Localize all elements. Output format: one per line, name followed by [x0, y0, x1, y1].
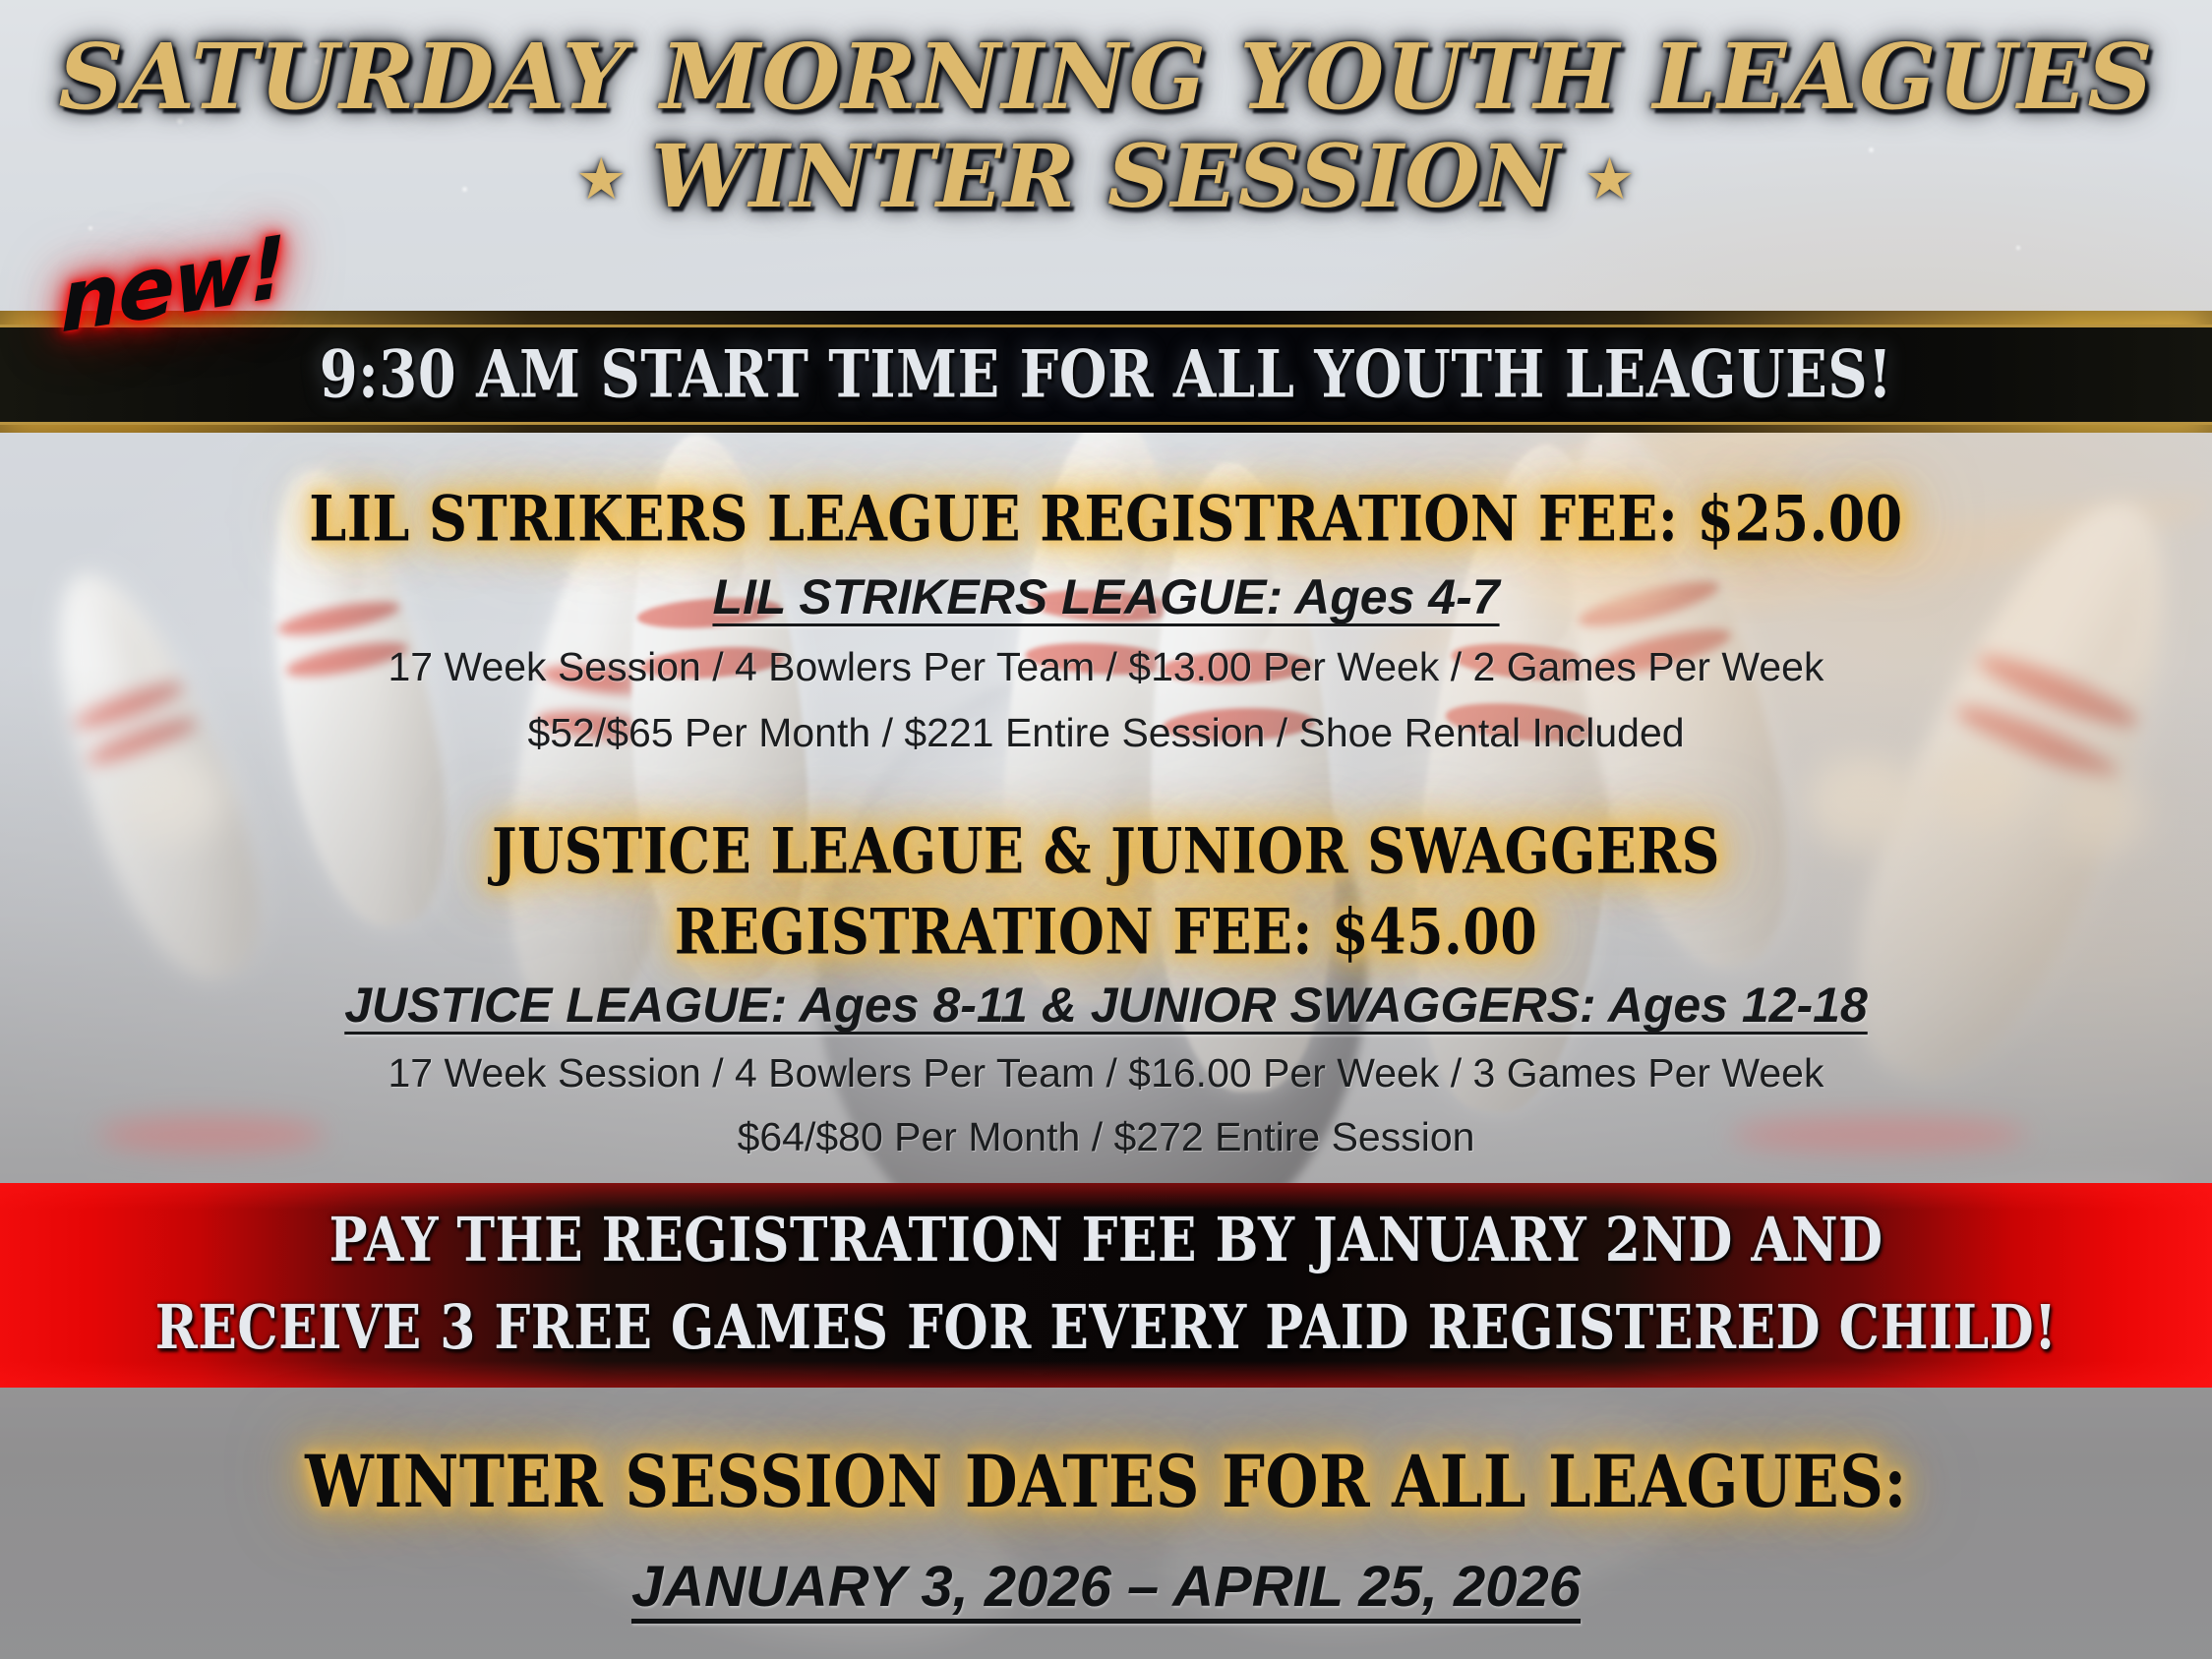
promo-banner-line-2: Receive 3 Free Games for Every Paid Regi…	[155, 1290, 2058, 1368]
promo-banner-line-1: Pay the Registration Fee by January 2nd …	[329, 1203, 1883, 1280]
justice-league-subheading: JUSTICE LEAGUE: Ages 8-11 & JUNIOR SWAGG…	[0, 977, 2212, 1034]
lil-strikers-detail-2: $52/$65 Per Month / $221 Entire Session …	[0, 710, 2212, 756]
lil-strikers-heading: Lil Strikers League Registration Fee: $2…	[309, 481, 1902, 556]
promo-banner: Pay the Registration Fee by January 2nd …	[0, 1183, 2212, 1388]
title-line-2-text: Winter Session	[651, 125, 1562, 227]
justice-league-heading-wrap-1: Justice League & Junior Swaggers	[0, 819, 2212, 882]
title-line-1: Saturday Morning Youth Leagues	[0, 30, 2212, 125]
title-line-2: ★Winter Session★	[0, 131, 2212, 221]
star-icon-right: ★	[1586, 153, 1634, 207]
dates-heading-wrap: Winter Session Dates for All Leagues:	[0, 1446, 2212, 1517]
lil-strikers-subheading: LIL STRIKERS LEAGUE: Ages 4-7	[0, 568, 2212, 625]
justice-league-detail-2: $64/$80 Per Month / $272 Entire Session	[0, 1114, 2212, 1160]
start-time-banner-label-wrap: 9:30 AM Start Time for All Youth Leagues…	[0, 342, 2212, 407]
bowling-league-flyer: Saturday Morning Youth Leagues ★Winter S…	[0, 0, 2212, 1659]
justice-league-detail-1: 17 Week Session / 4 Bowlers Per Team / $…	[0, 1050, 2212, 1096]
star-icon-left: ★	[578, 153, 626, 207]
lil-strikers-heading-wrap: Lil Strikers League Registration Fee: $2…	[0, 487, 2212, 550]
flyer-title: Saturday Morning Youth Leagues ★Winter S…	[0, 30, 2212, 221]
dates-range: JANUARY 3, 2026 – APRIL 25, 2026	[0, 1554, 2212, 1620]
justice-league-heading-line-2: Registration Fee: $45.00	[675, 894, 1537, 969]
justice-league-heading-wrap-2: Registration Fee: $45.00	[0, 900, 2212, 963]
lil-strikers-detail-1: 17 Week Session / 4 Bowlers Per Team / $…	[0, 644, 2212, 690]
start-time-banner-label: 9:30 AM Start Time for All Youth Leagues…	[320, 336, 1892, 413]
start-time-banner: 9:30 AM Start Time for All Youth Leagues…	[0, 325, 2212, 425]
justice-league-heading-line-1: Justice League & Junior Swaggers	[492, 813, 1720, 888]
dates-heading: Winter Session Dates for All Leagues:	[305, 1439, 1907, 1523]
